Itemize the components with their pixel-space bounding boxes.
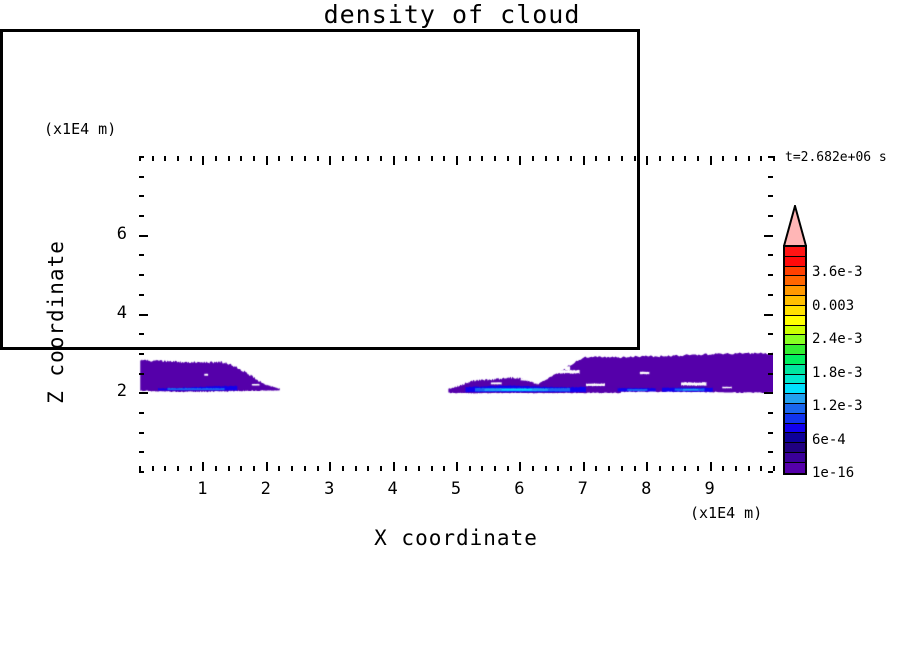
x-major-tick-top <box>202 156 204 165</box>
y-minor-tick-right <box>768 274 773 276</box>
y-minor-tick-right <box>768 156 773 158</box>
y-minor-tick-right <box>768 215 773 217</box>
x-major-tick <box>329 462 331 471</box>
x-minor-tick-top <box>228 156 230 161</box>
colorbar-band <box>785 276 805 286</box>
x-minor-tick <box>545 466 547 471</box>
colorbar-band <box>785 286 805 296</box>
y-minor-tick <box>139 156 144 158</box>
x-minor-tick <box>684 466 686 471</box>
x-minor-tick-top <box>532 156 534 161</box>
x-minor-tick <box>367 466 369 471</box>
x-major-tick-top <box>266 156 268 165</box>
x-minor-tick-top <box>494 156 496 161</box>
x-minor-tick <box>557 466 559 471</box>
x-major-tick-top <box>710 156 712 165</box>
time-annotation: t=2.682e+06 s <box>785 150 887 165</box>
x-minor-tick <box>760 466 762 471</box>
x-minor-tick <box>570 466 572 471</box>
y-major-tick-right <box>764 314 773 316</box>
x-minor-tick-top <box>240 156 242 161</box>
y-axis-units-label: (x1E4 m) <box>44 120 116 138</box>
colorbar-band <box>785 394 805 404</box>
x-minor-tick-top <box>380 156 382 161</box>
x-minor-tick <box>152 466 154 471</box>
x-minor-tick <box>469 466 471 471</box>
x-major-tick-top <box>519 156 521 165</box>
x-tick-label: 7 <box>568 479 598 499</box>
x-minor-tick <box>380 466 382 471</box>
x-tick-label: 2 <box>251 479 281 499</box>
x-minor-tick <box>190 466 192 471</box>
x-minor-tick-top <box>317 156 319 161</box>
colorbar-band <box>785 306 805 316</box>
x-minor-tick-top <box>621 156 623 161</box>
y-minor-tick-right <box>768 373 773 375</box>
x-minor-tick <box>659 466 661 471</box>
x-minor-tick <box>317 466 319 471</box>
x-minor-tick <box>342 466 344 471</box>
x-major-tick <box>202 462 204 471</box>
x-minor-tick-top <box>760 156 762 161</box>
colorbar-tick-label: 6e-4 <box>812 432 846 448</box>
x-minor-tick-top <box>722 156 724 161</box>
y-minor-tick <box>139 451 144 453</box>
x-minor-tick-top <box>697 156 699 161</box>
x-minor-tick-top <box>342 156 344 161</box>
x-minor-tick-top <box>672 156 674 161</box>
colorbar-tick-label: 3.6e-3 <box>812 264 863 280</box>
y-minor-tick-right <box>768 294 773 296</box>
x-minor-tick <box>304 466 306 471</box>
x-minor-tick <box>355 466 357 471</box>
colorbar-band <box>785 384 805 394</box>
y-minor-tick <box>139 254 144 256</box>
x-minor-tick <box>405 466 407 471</box>
x-tick-label: 9 <box>695 479 725 499</box>
x-minor-tick-top <box>748 156 750 161</box>
x-axis-title: X coordinate <box>136 526 776 550</box>
x-minor-tick <box>697 466 699 471</box>
x-tick-label: 3 <box>314 479 344 499</box>
y-minor-tick-right <box>768 432 773 434</box>
y-minor-tick <box>139 294 144 296</box>
x-minor-tick-top <box>152 156 154 161</box>
x-tick-label: 1 <box>187 479 217 499</box>
x-minor-tick-top <box>291 156 293 161</box>
colorbar-band <box>785 355 805 365</box>
y-minor-tick <box>139 195 144 197</box>
colorbar-band <box>785 414 805 424</box>
x-minor-tick-top <box>634 156 636 161</box>
x-minor-tick-top <box>367 156 369 161</box>
x-minor-tick-top <box>431 156 433 161</box>
x-minor-tick-top <box>278 156 280 161</box>
x-minor-tick-top <box>190 156 192 161</box>
x-minor-tick <box>228 466 230 471</box>
y-minor-tick-right <box>768 176 773 178</box>
x-minor-tick-top <box>164 156 166 161</box>
colorbar-band <box>785 453 805 463</box>
y-minor-tick <box>139 215 144 217</box>
y-minor-tick <box>139 432 144 434</box>
x-minor-tick <box>164 466 166 471</box>
x-minor-tick <box>507 466 509 471</box>
colorbar-band <box>785 443 805 453</box>
x-minor-tick <box>278 466 280 471</box>
x-minor-tick <box>418 466 420 471</box>
colorbar-arrow-icon <box>783 205 807 247</box>
x-minor-tick <box>431 466 433 471</box>
x-minor-tick <box>443 466 445 471</box>
x-major-tick <box>710 462 712 471</box>
x-minor-tick-top <box>545 156 547 161</box>
x-tick-label: 5 <box>441 479 471 499</box>
x-major-tick-top <box>646 156 648 165</box>
x-minor-tick <box>240 466 242 471</box>
x-tick-label: 6 <box>504 479 534 499</box>
x-minor-tick-top <box>507 156 509 161</box>
x-minor-tick-top <box>735 156 737 161</box>
x-minor-tick <box>215 466 217 471</box>
x-minor-tick-top <box>481 156 483 161</box>
x-minor-tick-top <box>304 156 306 161</box>
x-minor-tick <box>621 466 623 471</box>
x-minor-tick-top <box>215 156 217 161</box>
y-tick-label: 4 <box>97 303 127 323</box>
colorbar-band <box>785 463 805 473</box>
x-minor-tick <box>253 466 255 471</box>
colorbar-band <box>785 433 805 443</box>
x-minor-tick <box>773 466 775 471</box>
colorbar-tick-label: 1.8e-3 <box>812 365 863 381</box>
x-major-tick-top <box>393 156 395 165</box>
density-field-canvas <box>139 156 773 471</box>
y-minor-tick-right <box>768 333 773 335</box>
x-minor-tick <box>177 466 179 471</box>
y-minor-tick <box>139 471 144 473</box>
x-minor-tick <box>672 466 674 471</box>
x-major-tick-top <box>329 156 331 165</box>
x-major-tick <box>583 462 585 471</box>
colorbar-tick-label: 0.003 <box>812 298 854 314</box>
y-minor-tick <box>139 274 144 276</box>
colorbar-tick-label: 2.4e-3 <box>812 331 863 347</box>
x-minor-tick-top <box>595 156 597 161</box>
x-minor-tick <box>532 466 534 471</box>
colorbar-band <box>785 257 805 267</box>
x-minor-tick-top <box>557 156 559 161</box>
x-minor-tick <box>722 466 724 471</box>
y-minor-tick <box>139 412 144 414</box>
x-minor-tick <box>291 466 293 471</box>
colorbar-band <box>785 404 805 414</box>
x-minor-tick-top <box>253 156 255 161</box>
y-minor-tick-right <box>768 254 773 256</box>
x-minor-tick <box>481 466 483 471</box>
x-minor-tick <box>735 466 737 471</box>
chart-title: density of cloud <box>0 0 904 29</box>
x-tick-label: 4 <box>378 479 408 499</box>
y-minor-tick-right <box>768 412 773 414</box>
x-minor-tick-top <box>177 156 179 161</box>
colorbar-band <box>785 375 805 385</box>
colorbar-band <box>785 365 805 375</box>
y-minor-tick <box>139 373 144 375</box>
y-minor-tick <box>139 176 144 178</box>
y-minor-tick-right <box>768 451 773 453</box>
colorbar-band <box>785 296 805 306</box>
colorbar-band <box>785 345 805 355</box>
y-major-tick-right <box>764 392 773 394</box>
y-major-tick <box>139 314 148 316</box>
x-minor-tick <box>595 466 597 471</box>
colorbar-bands <box>783 245 807 475</box>
colorbar-tick-label: 1.2e-3 <box>812 398 863 414</box>
x-major-tick <box>393 462 395 471</box>
x-tick-label: 8 <box>631 479 661 499</box>
y-axis-title: Z coordinate <box>44 222 68 422</box>
x-major-tick-top <box>456 156 458 165</box>
y-minor-tick <box>139 353 144 355</box>
y-minor-tick <box>139 333 144 335</box>
x-minor-tick-top <box>608 156 610 161</box>
colorbar-band <box>785 316 805 326</box>
colorbar-band <box>785 267 805 277</box>
x-major-tick <box>646 462 648 471</box>
x-minor-tick <box>634 466 636 471</box>
x-minor-tick-top <box>469 156 471 161</box>
x-minor-tick <box>748 466 750 471</box>
x-minor-tick-top <box>773 156 775 161</box>
y-tick-label: 2 <box>97 381 127 401</box>
x-major-tick-top <box>583 156 585 165</box>
x-minor-tick <box>494 466 496 471</box>
colorbar-band <box>785 247 805 257</box>
y-minor-tick-right <box>768 471 773 473</box>
y-major-tick-right <box>764 235 773 237</box>
x-minor-tick-top <box>570 156 572 161</box>
y-minor-tick-right <box>768 195 773 197</box>
x-minor-tick-top <box>684 156 686 161</box>
x-minor-tick-top <box>418 156 420 161</box>
x-minor-tick-top <box>443 156 445 161</box>
colorbar-tick-label: 1e-16 <box>812 465 854 481</box>
x-minor-tick <box>608 466 610 471</box>
y-minor-tick-right <box>768 353 773 355</box>
y-tick-label: 6 <box>97 224 127 244</box>
x-axis-units-label: (x1E4 m) <box>690 504 762 522</box>
x-minor-tick-top <box>405 156 407 161</box>
colorbar <box>783 205 807 475</box>
x-minor-tick-top <box>355 156 357 161</box>
x-minor-tick-top <box>659 156 661 161</box>
y-major-tick <box>139 235 148 237</box>
colorbar-band <box>785 424 805 434</box>
x-major-tick <box>519 462 521 471</box>
x-major-tick <box>456 462 458 471</box>
plot-data-area <box>139 156 773 471</box>
y-major-tick <box>139 392 148 394</box>
x-major-tick <box>266 462 268 471</box>
colorbar-band <box>785 326 805 336</box>
colorbar-band <box>785 335 805 345</box>
